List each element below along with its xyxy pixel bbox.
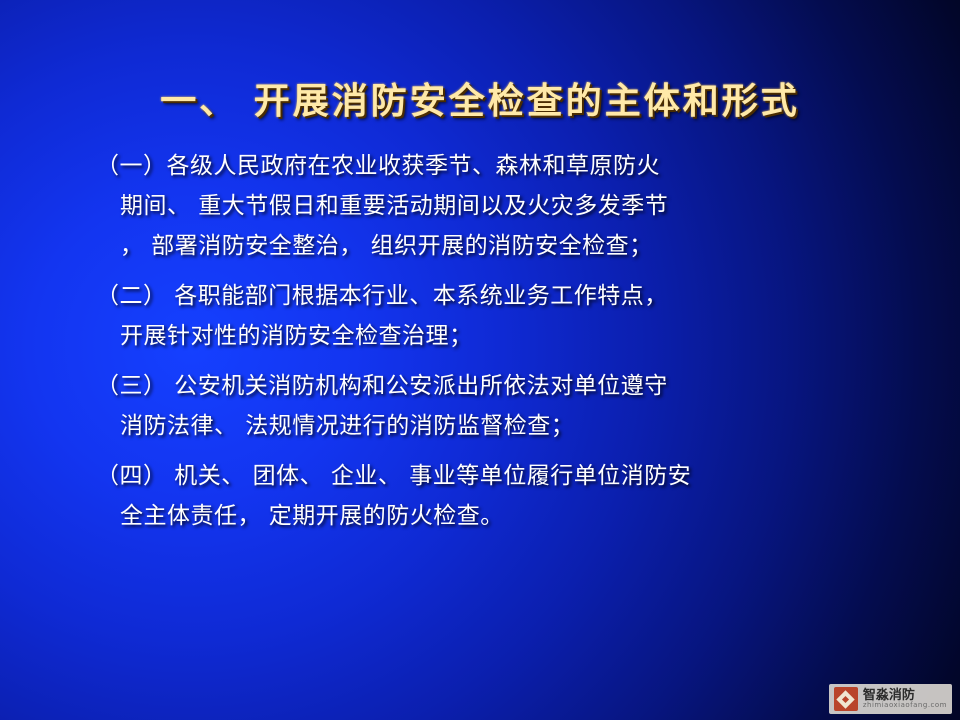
paragraph-line: 开展针对性的消防安全检查治理； bbox=[96, 316, 886, 356]
slide-title: 一、 开展消防安全检查的主体和形式 bbox=[0, 72, 960, 124]
paragraph-line: 消防法律、 法规情况进行的消防监督检查； bbox=[96, 406, 886, 446]
watermark: 智淼消防 zhimiaoxiaofang.com bbox=[829, 684, 952, 714]
presentation-slide: 一、 开展消防安全检查的主体和形式 （一）各级人民政府在农业收获季节、森林和草原… bbox=[0, 0, 960, 720]
paragraph-line: ， 部署消防安全整治， 组织开展的消防安全检查； bbox=[96, 226, 886, 266]
body-paragraph-4: （四） 机关、 团体、 企业、 事业等单位履行单位消防安 全主体责任， 定期开展… bbox=[96, 456, 886, 536]
paragraph-line: （一）各级人民政府在农业收获季节、森林和草原防火 bbox=[96, 146, 886, 186]
body-paragraph-2: （二） 各职能部门根据本行业、本系统业务工作特点， 开展针对性的消防安全检查治理… bbox=[96, 276, 886, 356]
watermark-brand: 智淼消防 bbox=[863, 689, 947, 703]
paragraph-line: （二） 各职能部门根据本行业、本系统业务工作特点， bbox=[96, 276, 886, 316]
shield-diamond-icon bbox=[834, 687, 858, 711]
paragraph-line: （四） 机关、 团体、 企业、 事业等单位履行单位消防安 bbox=[96, 456, 886, 496]
paragraph-line: 期间、 重大节假日和重要活动期间以及火灾多发季节 bbox=[96, 186, 886, 226]
body-paragraph-3: （三） 公安机关消防机构和公安派出所依法对单位遵守 消防法律、 法规情况进行的消… bbox=[96, 366, 886, 446]
body-paragraph-1: （一）各级人民政府在农业收获季节、森林和草原防火 期间、 重大节假日和重要活动期… bbox=[96, 146, 886, 266]
watermark-text: 智淼消防 zhimiaoxiaofang.com bbox=[863, 689, 947, 710]
watermark-url: zhimiaoxiaofang.com bbox=[863, 702, 947, 709]
paragraph-line: （三） 公安机关消防机构和公安派出所依法对单位遵守 bbox=[96, 366, 886, 406]
slide-body: （一）各级人民政府在农业收获季节、森林和草原防火 期间、 重大节假日和重要活动期… bbox=[96, 146, 886, 546]
paragraph-line: 全主体责任， 定期开展的防火检查。 bbox=[96, 496, 886, 536]
